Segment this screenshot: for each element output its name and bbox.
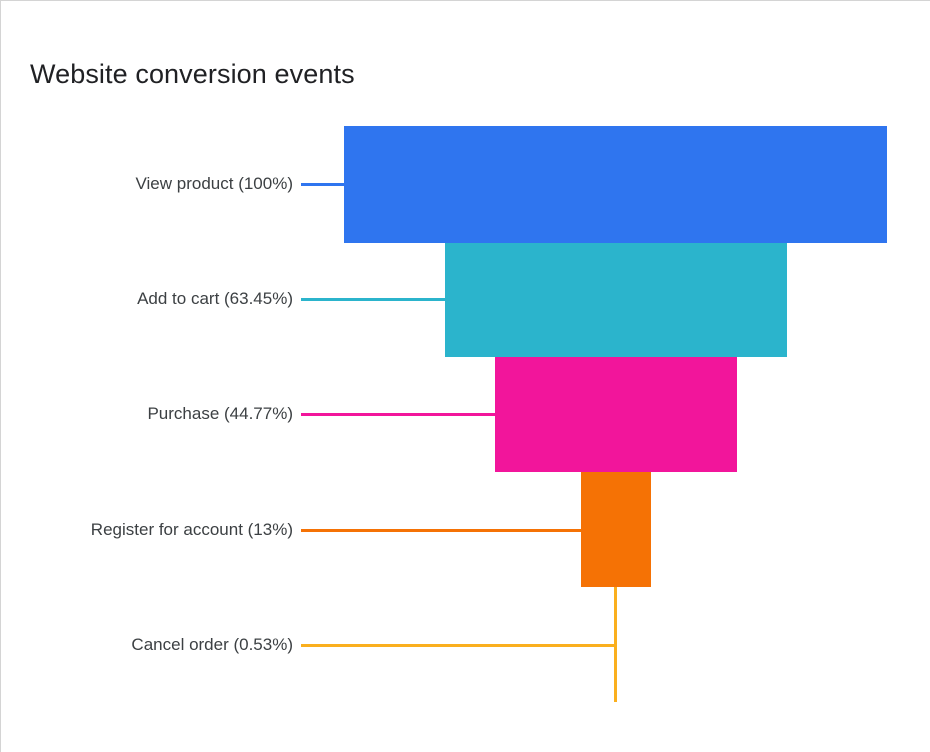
stage-leader-line-view-product (301, 183, 344, 186)
stage-label-add-to-cart: Add to cart (63.45%) (137, 289, 293, 309)
stage-bar-cancel-order[interactable] (614, 587, 617, 702)
stage-bar-purchase[interactable] (495, 357, 737, 472)
stage-label-register-for-account: Register for account (13%) (91, 520, 293, 540)
stage-bar-view-product[interactable] (344, 126, 887, 243)
stage-label-cancel-order: Cancel order (0.53%) (131, 635, 293, 655)
stage-bar-add-to-cart[interactable] (445, 243, 787, 357)
stage-label-view-product: View product (100%) (136, 174, 294, 194)
funnel-chart-container: Website conversion events View product (… (0, 0, 930, 752)
stage-leader-line-cancel-order (301, 644, 614, 647)
stage-leader-line-purchase (301, 413, 495, 416)
chart-title: Website conversion events (30, 57, 355, 91)
stage-leader-line-register-for-account (301, 529, 581, 532)
stage-bar-register-for-account[interactable] (581, 472, 651, 587)
stage-label-purchase: Purchase (44.77%) (147, 404, 293, 424)
stage-leader-line-add-to-cart (301, 298, 445, 301)
